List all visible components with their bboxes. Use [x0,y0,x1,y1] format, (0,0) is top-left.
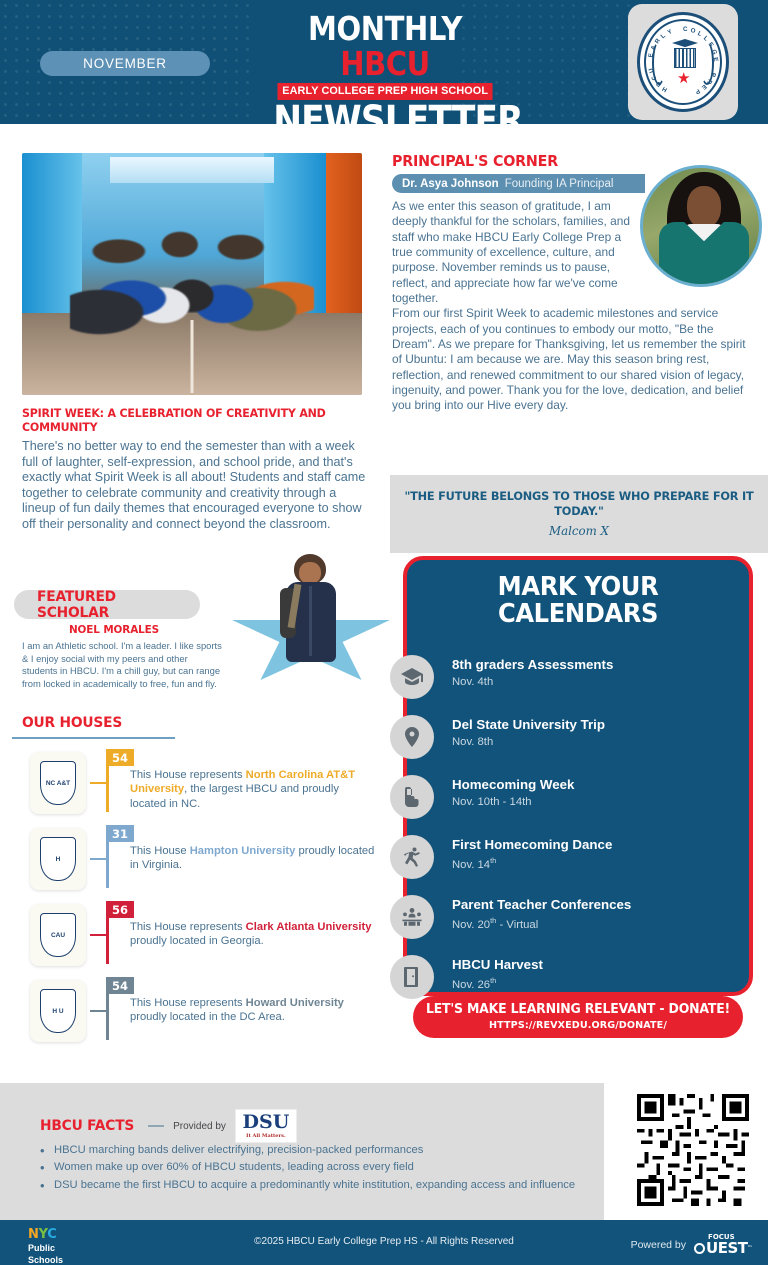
dancer-icon [390,835,434,879]
masthead-newsletter: NEWSLETTER [273,101,497,124]
featured-scholar-title: FEATURED SCHOLAR [37,589,192,621]
calendar-event: Homecoming WeekNov. 10th - 14th [407,775,749,835]
house-count-badge: 54 [106,749,134,766]
calendar-event-name: HBCU Harvest [452,957,543,972]
spirit-week-body: There's no better way to end the semeste… [22,439,367,533]
qr-code-svg [637,1094,749,1206]
calendar-event-date: Nov. 4th [452,676,493,688]
house-description: This House Hampton University proudly lo… [130,844,375,873]
calendar-event: 8th graders AssessmentsNov. 4th [407,655,749,715]
seal-ring-text: HBCU EARLY COLLEGE PREP [646,21,720,103]
our-houses-header: OUR HOUSES [22,715,272,731]
foam-finger-icon [390,775,434,819]
powered-by-label: Powered by [631,1239,686,1251]
calendar-card: MARK YOUR CALENDARS 8th graders Assessme… [403,556,753,996]
calendar-event-name: Parent Teacher Conferences [452,897,631,912]
calendar-event-date: Nov. 8th [452,736,493,748]
graduation-cap-icon [390,655,434,699]
principals-corner-title: PRINCIPAL'S CORNER [392,152,558,170]
featured-scholar-pill: FEATURED SCHOLAR [14,590,200,619]
calendar-title: MARK YOUR CALENDARS [419,574,737,627]
photo-students-group [70,204,315,340]
facts-dash-divider [148,1125,164,1127]
dsu-wordmark: DSU [243,1113,290,1132]
spirit-week-photo [22,153,362,395]
featured-scholar-star-graphic [232,552,390,687]
house-description: This House represents North Carolina AT&… [130,768,375,811]
school-seal: ★ HBCU EARLY COLLEGE PREP [637,12,729,112]
calendar-title-line-1: MARK YOUR [419,574,737,601]
page-header: NOVEMBER MONTHLY HBCU EARLY COLLEGE PREP… [0,0,768,124]
house-logo-text: NC A&T [46,780,70,787]
qr-code[interactable] [637,1094,749,1206]
featured-scholar-photo [280,552,342,664]
house-university-name: Clark Atlanta University [246,921,372,933]
principal-name: Dr. Asya Johnson [402,178,499,190]
house-logo-text: CAU [51,932,65,939]
meeting-people-icon [390,895,434,939]
our-houses-divider [12,737,175,739]
nyc-schools-label: Schools [28,1255,104,1265]
map-pin-icon [390,715,434,759]
house-description: This House represents Howard University … [130,996,375,1025]
house-university-name: Hampton University [190,845,296,857]
focus-quest-word: UEST [706,1241,747,1256]
facts-provided-by-label: Provided by [173,1121,226,1132]
dsu-tagline: It All Matters. [246,1133,286,1139]
donate-banner[interactable]: LET'S MAKE LEARNING RELEVANT - DONATE! H… [413,996,743,1038]
house-count-badge: 56 [106,901,134,918]
calendar-event-date: Nov. 20th - Virtual [452,916,538,931]
hbcu-fact-item: DSU became the first HBCU to acquire a p… [38,1177,598,1194]
principal-paragraph-1: As we enter this season of gratitude, I … [392,199,630,306]
house-item: NC A&T54This House represents North Caro… [22,752,372,818]
house-shield-icon: H [40,837,76,881]
house-logo: NC A&T [30,752,86,814]
house-accent-bar [106,988,109,1040]
door-icon [390,955,434,999]
scholar-face [299,562,321,584]
calendar-event-date: Nov. 10th - 14th [452,796,532,808]
quest-pin-icon [694,1243,705,1254]
hbcu-facts-title: HBCU FACTS [40,1118,134,1134]
quote-author: Malcom X [549,524,609,538]
house-count-badge: 54 [106,977,134,994]
principal-role: Founding IA Principal [505,178,614,190]
calendar-event-name: First Homecoming Dance [452,837,612,852]
house-shield-icon: NC A&T [40,761,76,805]
house-item: H31This House Hampton University proudly… [22,828,372,894]
house-description: This House represents Clark Atlanta Univ… [130,920,375,949]
house-connector [90,858,107,860]
focus-quest-logo: FOCUS UEST™ [694,1234,752,1256]
calendar-event-name: Del State University Trip [452,717,605,732]
month-badge: NOVEMBER [40,51,210,76]
photo-door [326,153,362,327]
house-logo-text: H [56,856,61,863]
hbcu-fact-item: Women make up over 60% of HBCU students,… [38,1159,598,1176]
masthead-line-1: MONTHLY HBCU [271,12,500,81]
scholar-hoodie-zipper [309,586,312,656]
house-connector [90,1010,107,1012]
donate-headline: LET'S MAKE LEARNING RELEVANT - DONATE! [420,1002,737,1017]
school-seal-card: ★ HBCU EARLY COLLEGE PREP [628,4,738,120]
principals-corner-header: PRINCIPAL'S CORNER [392,152,567,170]
house-accent-bar [106,760,109,812]
hbcu-fact-item: HBCU marching bands deliver electrifying… [38,1142,598,1159]
masthead-monthly: MONTHLY [308,9,462,48]
house-university-name: Howard University [246,997,344,1009]
house-university-name: North Carolina AT&T University [130,769,355,795]
featured-scholar-bio: I am an Athletic school. I'm a leader. I… [22,640,222,690]
house-count-badge: 31 [106,825,134,842]
house-connector [90,782,107,784]
quote-text: "THE FUTURE BELONGS TO THOSE WHO PREPARE… [390,490,768,519]
principal-name-bar: Dr. Asya Johnson Founding IA Principal [392,174,645,193]
featured-scholar-name: NOEL MORALES [14,624,214,636]
spirit-week-section: SPIRIT WEEK: A CELEBRATION OF CREATIVITY… [22,406,367,533]
hbcu-facts-list: HBCU marching bands deliver electrifying… [38,1142,598,1194]
house-accent-bar [106,836,109,888]
newsletter-page: NOVEMBER MONTHLY HBCU EARLY COLLEGE PREP… [0,0,768,1265]
principals-corner-body: As we enter this season of gratitude, I … [392,199,748,414]
photo-ceiling-light [110,157,273,183]
hbcu-facts-header: HBCU FACTS Provided by DSU It All Matter… [40,1109,297,1143]
house-accent-bar [106,912,109,964]
spirit-week-title: SPIRIT WEEK: A CELEBRATION OF CREATIVITY… [22,406,350,434]
house-logo: H U [30,980,86,1042]
powered-by-block: Powered by FOCUS UEST™ [631,1234,752,1256]
house-logo: CAU [30,904,86,966]
house-connector [90,934,107,936]
principal-paragraph-3: As we prepare for Thanksgiving, let us r… [392,337,746,412]
calendar-event: First Homecoming DanceNov. 14th [407,835,749,895]
house-logo: H [30,828,86,890]
calendar-event: Del State University TripNov. 8th [407,715,749,775]
calendar-event: Parent Teacher ConferencesNov. 20th - Vi… [407,895,749,955]
house-item: CAU56This House represents Clark Atlanta… [22,904,372,970]
donate-url[interactable]: HTTPS://REVXEDU.ORG/DONATE/ [413,1020,743,1031]
house-item: H U54This House represents Howard Univer… [22,980,372,1046]
seal-inner-ring: ★ HBCU EARLY COLLEGE PREP [644,19,722,105]
month-badge-label: NOVEMBER [83,56,167,71]
masthead: MONTHLY HBCU EARLY COLLEGE PREP HIGH SCH… [255,12,515,124]
house-shield-icon: H U [40,989,76,1033]
house-logo-text: H U [52,1008,63,1015]
calendar-event-date: Nov. 14th [452,856,496,871]
masthead-hbcu: HBCU [340,44,430,83]
quote-box: "THE FUTURE BELONGS TO THOSE WHO PREPARE… [390,475,768,553]
calendar-event-name: 8th graders Assessments [452,657,613,672]
calendar-event-list: 8th graders AssessmentsNov. 4thDel State… [407,655,749,1015]
focus-quest-main: UEST™ [694,1241,752,1256]
house-shield-icon: CAU [40,913,76,957]
calendar-event-date: Nov. 26th [452,976,496,991]
trademark-symbol: ™ [748,1246,753,1251]
calendar-title-line-2: CALENDARS [419,601,737,628]
our-houses-title: OUR HOUSES [22,715,260,731]
calendar-event-name: Homecoming Week [452,777,574,792]
dsu-logo: DSU It All Matters. [235,1109,297,1143]
